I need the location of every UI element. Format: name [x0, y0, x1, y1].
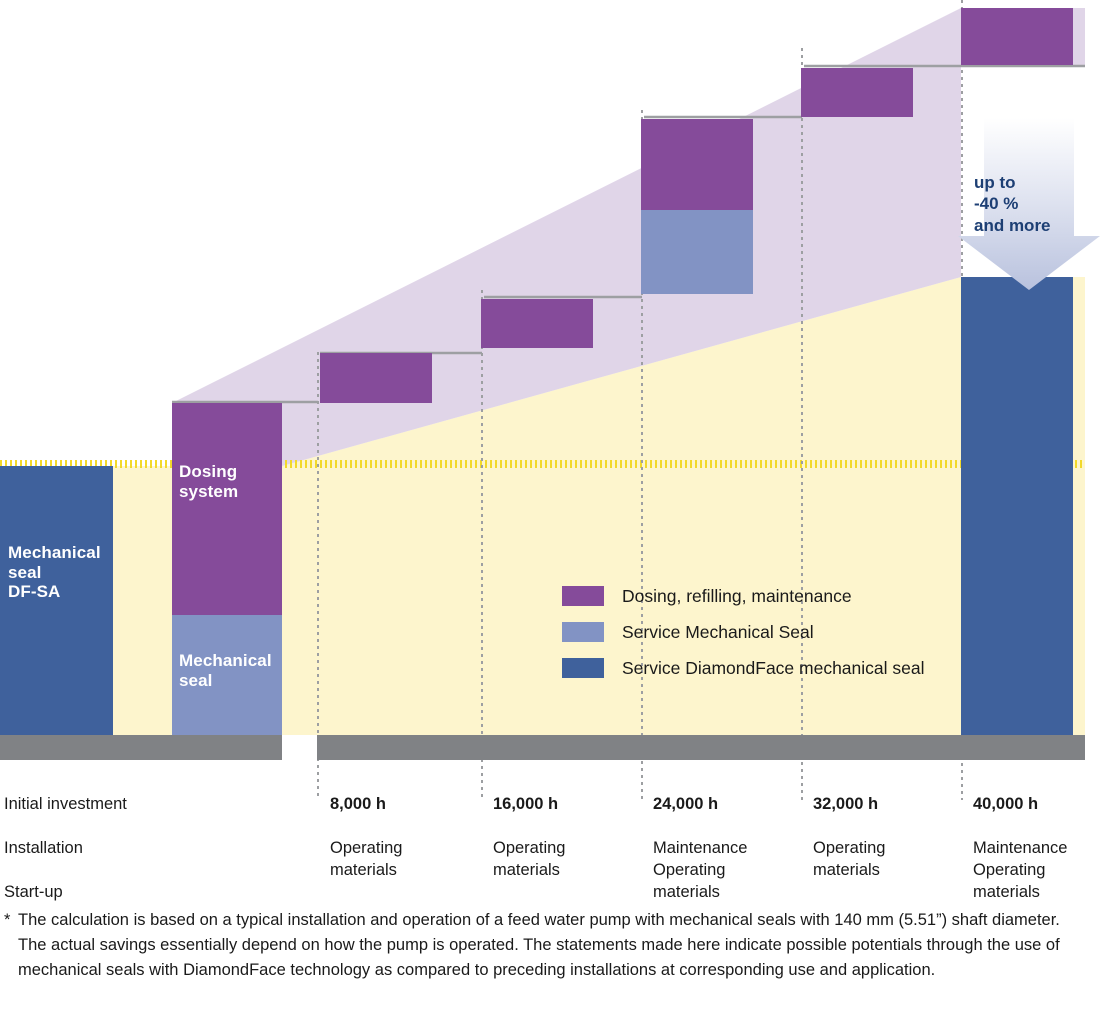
bar-24000h-service-mechanical-seal: [641, 210, 753, 294]
axis-hours-8000h: 8,000 h: [330, 794, 478, 816]
chart-area: Mechanical seal DF-SA Dosing system Mech…: [0, 0, 1100, 885]
bar-initial-diamondface-seal: [0, 466, 113, 735]
axis-caption-initial-line1: Initial investment: [4, 795, 127, 813]
bar-8000h-dosing: [320, 353, 432, 403]
axis-caption-24000h: 24,000 h Maintenance Operating materials: [653, 772, 801, 904]
axis-bar-periodic: [317, 735, 1085, 760]
axis-detail-24000h: Maintenance Operating materials: [653, 839, 747, 901]
lifecycle-cost-chart-page: Mechanical seal DF-SA Dosing system Mech…: [0, 0, 1100, 1024]
axis-detail-8000h: Operating materials: [330, 839, 402, 879]
axis-caption-16000h: 16,000 h Operating materials: [493, 772, 641, 882]
axis-detail-40000h: Maintenance Operating materials: [973, 839, 1067, 901]
bar-16000h-dosing: [481, 299, 593, 348]
footnote: * The calculation is based on a typical …: [4, 908, 1076, 982]
axis-caption-40000h: 40,000 h Maintenance Operating materials: [973, 772, 1100, 904]
footnote-text: The calculation is based on a typical in…: [18, 908, 1076, 982]
axis-hours-32000h: 32,000 h: [813, 794, 961, 816]
axis-caption-initial-investment: Initial investment Installation Start-up: [4, 772, 294, 904]
axis-caption-initial-line2: Installation: [4, 839, 83, 857]
axis-caption-8000h: 8,000 h Operating materials: [330, 772, 478, 882]
footnote-marker: *: [4, 908, 18, 982]
axis-caption-initial-line3: Start-up: [4, 883, 63, 901]
savings-callout-text: up to -40 % and more: [974, 172, 1051, 236]
axis-detail-16000h: Operating materials: [493, 839, 565, 879]
axis-hours-16000h: 16,000 h: [493, 794, 641, 816]
bar-40000h-dosing: [961, 8, 1073, 65]
legend-item-dosing-refilling-maintenance: Dosing, refilling, maintenance: [562, 578, 982, 614]
legend-item-service-mechanical-seal: Service Mechanical Seal: [562, 614, 982, 650]
chart-graphic: [0, 0, 1100, 885]
legend-label-service-mechanical-seal: Service Mechanical Seal: [622, 622, 814, 643]
legend-swatch-service-mechanical-seal: [562, 622, 604, 642]
savings-callout: up to -40 % and more: [958, 118, 1100, 290]
axis-hours-40000h: 40,000 h: [973, 794, 1100, 816]
legend-label-dosing-refilling-maintenance: Dosing, refilling, maintenance: [622, 586, 852, 607]
axis-detail-32000h: Operating materials: [813, 839, 885, 879]
axis-bar-initial: [0, 735, 282, 760]
legend-item-service-diamondface-mechanical-seal: Service DiamondFace mechanical seal: [562, 650, 982, 686]
legend-label-service-diamondface-mechanical-seal: Service DiamondFace mechanical seal: [622, 658, 925, 679]
axis-caption-32000h: 32,000 h Operating materials: [813, 772, 961, 882]
bar-initial-dosing-system: [172, 403, 282, 615]
legend-swatch-dosing-refilling-maintenance: [562, 586, 604, 606]
chart-legend: Dosing, refilling, maintenance Service M…: [562, 578, 982, 686]
bar-32000h-dosing: [801, 68, 913, 117]
axis-hours-24000h: 24,000 h: [653, 794, 801, 816]
legend-swatch-service-diamondface-mechanical-seal: [562, 658, 604, 678]
bar-initial-mechanical-seal: [172, 615, 282, 735]
bar-24000h-dosing: [641, 119, 753, 210]
